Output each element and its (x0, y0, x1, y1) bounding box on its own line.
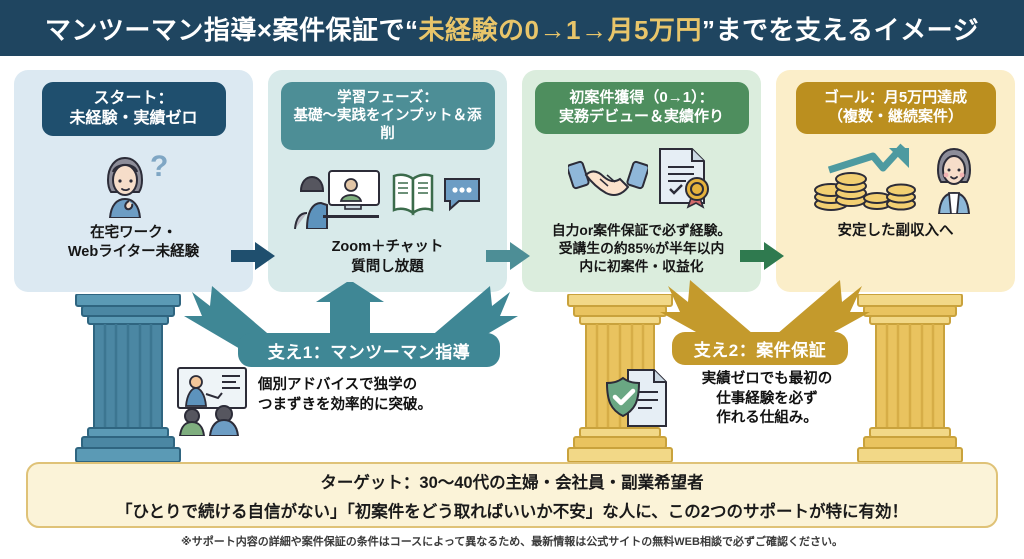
journey-cards: スタート： 未経験・実績ゼロ ? 在宅ワーク・ Webライター未経験 (0, 70, 1024, 292)
support-2-text-line1: 実績ゼロでも最初の (672, 370, 862, 390)
card-first-job-caption-line1: 自力or案件保証で必ず経験。 (552, 222, 731, 240)
card-first-job-caption-line2: 受講生の約85%が半年以内 (552, 240, 731, 258)
support-2-text-line2: 仕事経験を必ず (672, 390, 862, 410)
card-goal-badge-line1: ゴール：月5万円達成 (806, 89, 986, 108)
support-1-text-line2: つまずきを効率的に突破。 (258, 396, 498, 416)
target-banner: ターゲット：30〜40代の主婦・会社員・副業希望者 「ひとりで続ける自信がない」… (26, 462, 998, 528)
card-start-caption: 在宅ワーク・ Webライター未経験 (68, 224, 199, 262)
title-suffix: ”までを支えるイメージ (702, 15, 979, 45)
title-highlight: 未経験の0→1→月5万円 (419, 15, 702, 45)
card-start-art: ? (86, 142, 182, 218)
card-goal-caption-line1: 安定した副収入へ (838, 222, 954, 241)
page-header: マンツーマン指導×案件保証で“未経験の0→1→月5万円”までを支えるイメージ (0, 0, 1024, 56)
title-prefix: マンツーマン指導×案件保証で“ (45, 15, 419, 45)
target-banner-line2: 「ひとりで続ける自信がない」「初案件をどう取ればいいか不安」な人に、この2つのサ… (116, 498, 908, 522)
card-start: スタート： 未経験・実績ゼロ ? 在宅ワーク・ Webライター未経験 (14, 70, 253, 292)
smiling-woman-icon (927, 142, 981, 214)
support-2-text: 実績ゼロでも最初の 仕事経験を必ず 作れる仕組み。 (672, 370, 862, 429)
pillar-left (72, 294, 184, 464)
footnote: ※サポート内容の詳細や案件保証の条件はコースによって異なるため、最新情報は公式サ… (0, 533, 1024, 549)
video-lesson-icon (293, 159, 385, 229)
arrow-first-job-to-goal (740, 241, 784, 271)
card-learning-art (293, 156, 483, 232)
card-learning-badge: 学習フェーズ： 基礎〜実践をインプット＆添削 (281, 82, 495, 150)
shield-document-icon (604, 368, 672, 430)
page-title: マンツーマン指導×案件保証で“未経験の0→1→月5万円”までを支えるイメージ (45, 10, 979, 47)
card-start-badge-line1: スタート： (52, 89, 216, 109)
coin-stack-icon (811, 142, 921, 214)
card-first-job-caption-line3: 内に初案件・収益化 (552, 258, 731, 276)
card-learning-caption: Zoom＋チャット 質問し放題 (332, 238, 444, 276)
svg-text:?: ? (150, 150, 168, 183)
card-first-job-badge-line1: 初案件獲得（0→1）： (545, 89, 739, 108)
card-learning-badge-line1: 学習フェーズ： (291, 89, 485, 107)
card-first-job-art (568, 140, 716, 216)
card-goal-art (811, 140, 981, 216)
classroom-teaching-icon (172, 366, 252, 436)
arrow-learning-to-first-job (486, 241, 530, 271)
card-learning-badge-line2: 基礎〜実践をインプット＆添削 (291, 107, 485, 143)
support-section: 支え1：マンツーマン指導 個別アドバイスで独学の つまずきを効率的に突破。 支え… (0, 288, 1024, 464)
card-first-job: 初案件獲得（0→1）： 実務デビュー＆実績作り (522, 70, 761, 292)
support-2-text-line3: 作れる仕組み。 (672, 409, 862, 429)
card-goal: ゴール：月5万円達成 （複数・継続案件） (776, 70, 1015, 292)
card-goal-caption: 安定した副収入へ (838, 222, 954, 241)
card-first-job-badge-line2: 実務デビュー＆実績作り (545, 108, 739, 127)
chat-bubble-icon (441, 173, 483, 215)
card-learning-caption-line1: Zoom＋チャット (332, 238, 444, 257)
card-learning-caption-line2: 質問し放題 (332, 258, 444, 277)
open-book-icon (391, 169, 435, 219)
card-goal-badge-line2: （複数・継続案件） (806, 108, 986, 127)
support-1-text-line1: 個別アドバイスで独学の (258, 376, 498, 396)
support-1-text: 個別アドバイスで独学の つまずきを効率的に突破。 (258, 376, 498, 415)
card-first-job-badge: 初案件獲得（0→1）： 実務デビュー＆実績作り (535, 82, 749, 134)
handshake-icon (568, 149, 648, 207)
target-banner-line1: ターゲット：30〜40代の主婦・会社員・副業希望者 (320, 469, 703, 493)
arrow-start-to-learning (231, 241, 275, 271)
card-first-job-caption: 自力or案件保証で必ず経験。 受講生の約85%が半年以内 内に初案件・収益化 (552, 222, 731, 277)
confused-woman-icon: ? (86, 142, 182, 218)
card-start-badge: スタート： 未経験・実績ゼロ (42, 82, 226, 136)
certificate-document-icon (654, 145, 716, 211)
support-2-badge: 支え2：案件保証 (672, 332, 848, 365)
card-start-caption-line2: Webライター未経験 (68, 243, 199, 262)
card-goal-badge: ゴール：月5万円達成 （複数・継続案件） (796, 82, 996, 134)
support-1-badge: 支え1：マンツーマン指導 (238, 333, 500, 367)
card-start-badge-line2: 未経験・実績ゼロ (52, 109, 216, 129)
card-start-caption-line1: 在宅ワーク・ (68, 224, 199, 243)
infographic-root: マンツーマン指導×案件保証で“未経験の0→1→月5万円”までを支えるイメージ ス… (0, 0, 1024, 559)
card-learning: 学習フェーズ： 基礎〜実践をインプット＆添削 (268, 70, 507, 292)
